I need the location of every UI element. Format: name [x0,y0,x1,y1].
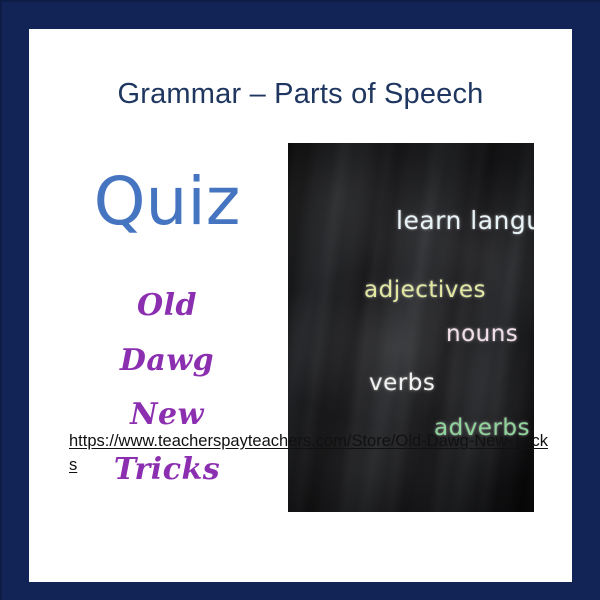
quiz-heading: Quiz [37,169,297,235]
brand-line-dawg: Dawg [37,334,297,389]
page-title: Grammar – Parts of Speech [29,78,572,111]
chalk-word-adjectives: adjectives [364,277,486,303]
chalk-word-verbs: verbs [369,370,435,396]
chalk-word-adverbs: adverbs [434,415,530,441]
brand-line-old: Old [37,279,297,334]
chalk-word-nouns: nouns [446,321,518,347]
slide-canvas: Grammar – Parts of Speech Quiz Old Dawg … [29,29,572,582]
slide-frame: Grammar – Parts of Speech Quiz Old Dawg … [0,0,600,600]
chalk-word-learn-language: learn language [396,206,534,235]
